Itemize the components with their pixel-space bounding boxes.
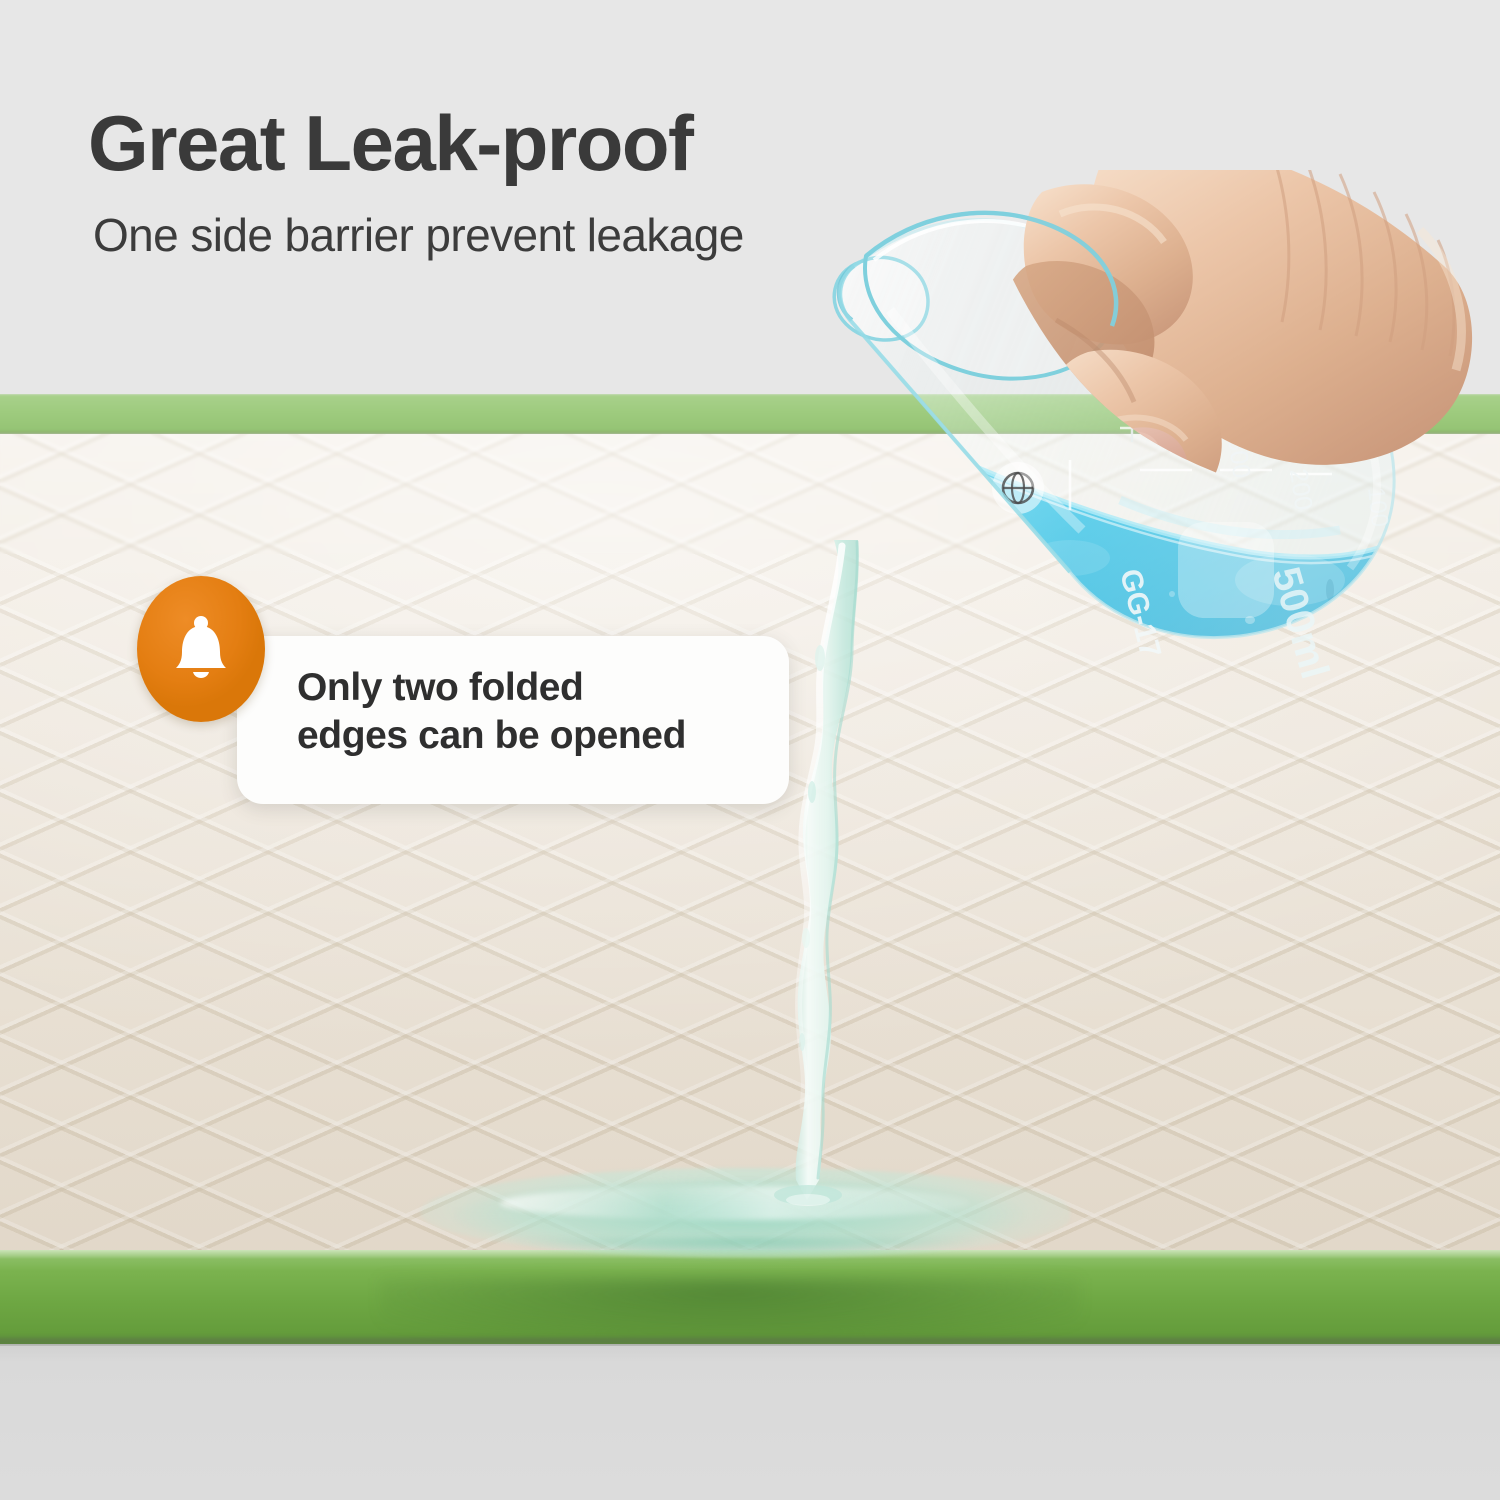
- bell-badge: [137, 576, 265, 722]
- barrier-near-shadow: [0, 1338, 1500, 1346]
- spill-puddle-edge: [430, 1238, 1060, 1264]
- page-subtitle: One side barrier prevent leakage: [93, 212, 744, 258]
- bell-icon: [170, 614, 232, 684]
- callout: Only two folded edges can be opened: [137, 576, 789, 804]
- callout-line-1: Only two folded: [297, 664, 777, 712]
- product-marketing-image: Great Leak-proof One side barrier preven…: [0, 0, 1500, 1500]
- floor-surface: [0, 1340, 1500, 1500]
- beaker-frosted-panel: [1178, 522, 1274, 618]
- beaker-mark-200: 200: [1284, 467, 1318, 512]
- spill-puddle-sheen: [500, 1186, 970, 1220]
- beaker-and-hand: 500 APPROX 300 200 100 GG-17 500ml: [820, 170, 1480, 770]
- barrier-wet-patch: [380, 1278, 1080, 1340]
- page-title: Great Leak-proof: [88, 104, 692, 182]
- callout-text: Only two folded edges can be opened: [297, 664, 777, 759]
- callout-line-2: edges can be opened: [297, 712, 777, 760]
